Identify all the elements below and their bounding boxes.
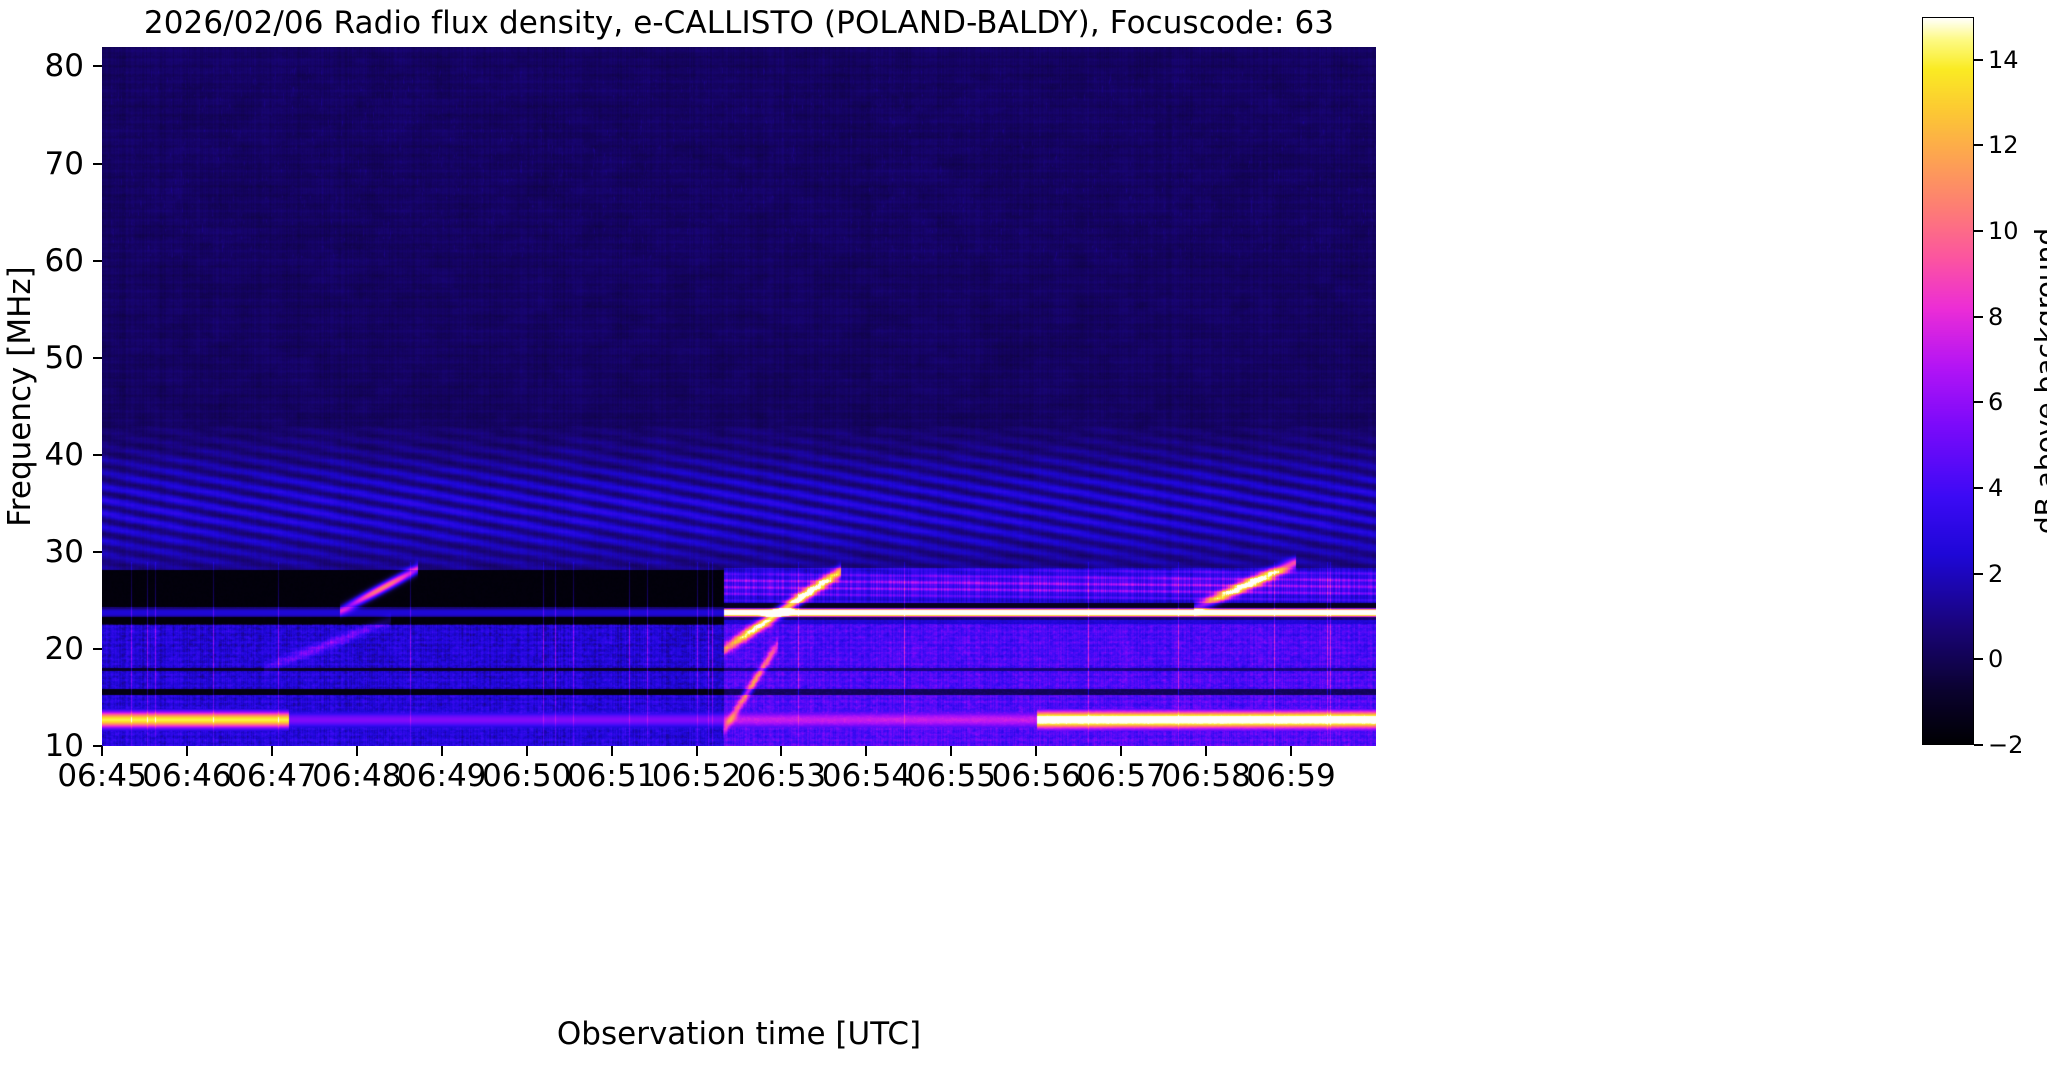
colorbar-tick-mark	[1974, 144, 1983, 146]
colorbar	[1922, 17, 1974, 745]
x-tick-mark	[611, 746, 613, 756]
x-tick-mark	[1205, 746, 1207, 756]
colorbar-label: dB above background	[2028, 17, 2047, 745]
x-tick-mark	[101, 746, 103, 756]
colorbar-tick-label: 8	[1988, 304, 2003, 330]
y-axis-title: Frequency [MHz]	[0, 47, 40, 746]
spectrogram-canvas	[102, 47, 1376, 746]
colorbar-tick-label: 0	[1988, 646, 2003, 672]
colorbar-tick-label: 12	[1988, 132, 2019, 158]
y-tick-mark	[93, 454, 102, 456]
x-tick-mark	[356, 746, 358, 756]
colorbar-tick-mark	[1974, 573, 1983, 575]
x-tick-mark	[950, 746, 952, 756]
colorbar-tick-mark	[1974, 59, 1983, 61]
x-tick-mark	[1035, 746, 1037, 756]
colorbar-tick-label: 14	[1988, 47, 2019, 73]
x-tick-mark	[1290, 746, 1292, 756]
x-tick-mark	[441, 746, 443, 756]
colorbar-tick-label: 4	[1988, 475, 2003, 501]
y-tick-mark	[93, 163, 102, 165]
x-axis-label: Observation time [UTC]	[102, 1014, 1376, 1054]
colorbar-tick-mark	[1974, 487, 1983, 489]
colorbar-tick-label: −2	[1988, 732, 2023, 758]
x-tick-mark	[696, 746, 698, 756]
y-tick-mark	[93, 551, 102, 553]
colorbar-gradient	[1923, 18, 1973, 744]
spectrogram-figure: 2026/02/06 Radio flux density, e-CALLIST…	[0, 0, 2047, 1067]
y-tick-mark	[93, 65, 102, 67]
colorbar-tick-mark	[1974, 744, 1983, 746]
colorbar-tick-mark	[1974, 316, 1983, 318]
colorbar-tick-mark	[1974, 230, 1983, 232]
y-tick-mark	[93, 648, 102, 650]
colorbar-tick-label: 6	[1988, 389, 2003, 415]
colorbar-tick-label: 10	[1988, 218, 2019, 244]
figure-title: 2026/02/06 Radio flux density, e-CALLIST…	[102, 4, 1376, 42]
x-tick-mark	[186, 746, 188, 756]
colorbar-tick-mark	[1974, 401, 1983, 403]
x-tick-mark	[271, 746, 273, 756]
y-tick-mark	[93, 357, 102, 359]
colorbar-tick-mark	[1974, 658, 1983, 660]
x-tick-label: 06:59	[1216, 758, 1366, 794]
x-tick-mark	[526, 746, 528, 756]
x-tick-mark	[780, 746, 782, 756]
spectrogram-plot-area	[102, 47, 1376, 746]
x-tick-mark	[1120, 746, 1122, 756]
y-tick-mark	[93, 260, 102, 262]
x-tick-mark	[865, 746, 867, 756]
colorbar-tick-label: 2	[1988, 561, 2003, 587]
